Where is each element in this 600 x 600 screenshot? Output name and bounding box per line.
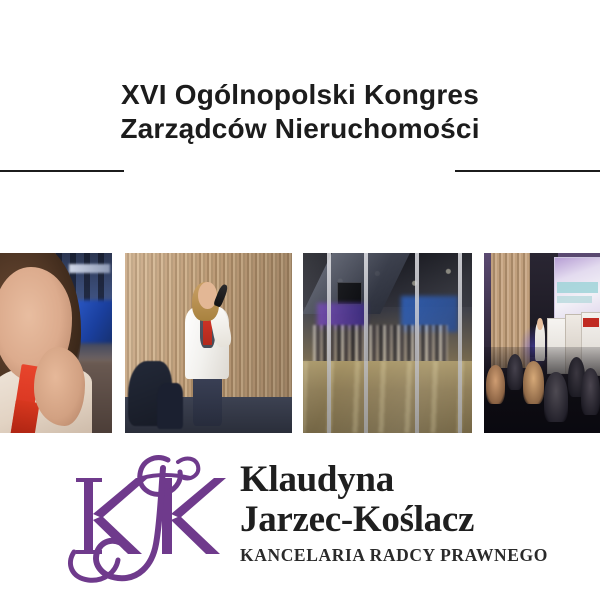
logo-name-line-2: Jarzec-Koślacz bbox=[240, 500, 580, 540]
law-firm-logo: Klaudyna Jarzec-Koślacz KANCELARIA RADCY… bbox=[0, 448, 600, 588]
decorative-rule-right-icon bbox=[455, 170, 600, 172]
event-photo-4 bbox=[484, 253, 600, 433]
page-title: XVI Ogólnopolski Kongres Zarządców Nieru… bbox=[0, 78, 600, 146]
event-photo-2 bbox=[125, 253, 292, 433]
title-line-2: Zarządców Nieruchomości bbox=[0, 112, 600, 146]
logo-tagline: KANCELARIA RADCY PRAWNEGO bbox=[240, 545, 580, 566]
event-photo-3 bbox=[303, 253, 472, 433]
title-line-1: XVI Ogólnopolski Kongres bbox=[0, 78, 600, 112]
kk-monogram-icon bbox=[50, 448, 235, 586]
event-photo-1 bbox=[0, 253, 112, 433]
slide-canvas: XVI Ogólnopolski Kongres Zarządców Nieru… bbox=[0, 0, 600, 600]
logo-text-block: Klaudyna Jarzec-Koślacz KANCELARIA RADCY… bbox=[240, 460, 580, 566]
logo-name-line-1: Klaudyna bbox=[240, 460, 580, 500]
decorative-rule-left-icon bbox=[0, 170, 124, 172]
event-photo-strip bbox=[0, 253, 600, 433]
